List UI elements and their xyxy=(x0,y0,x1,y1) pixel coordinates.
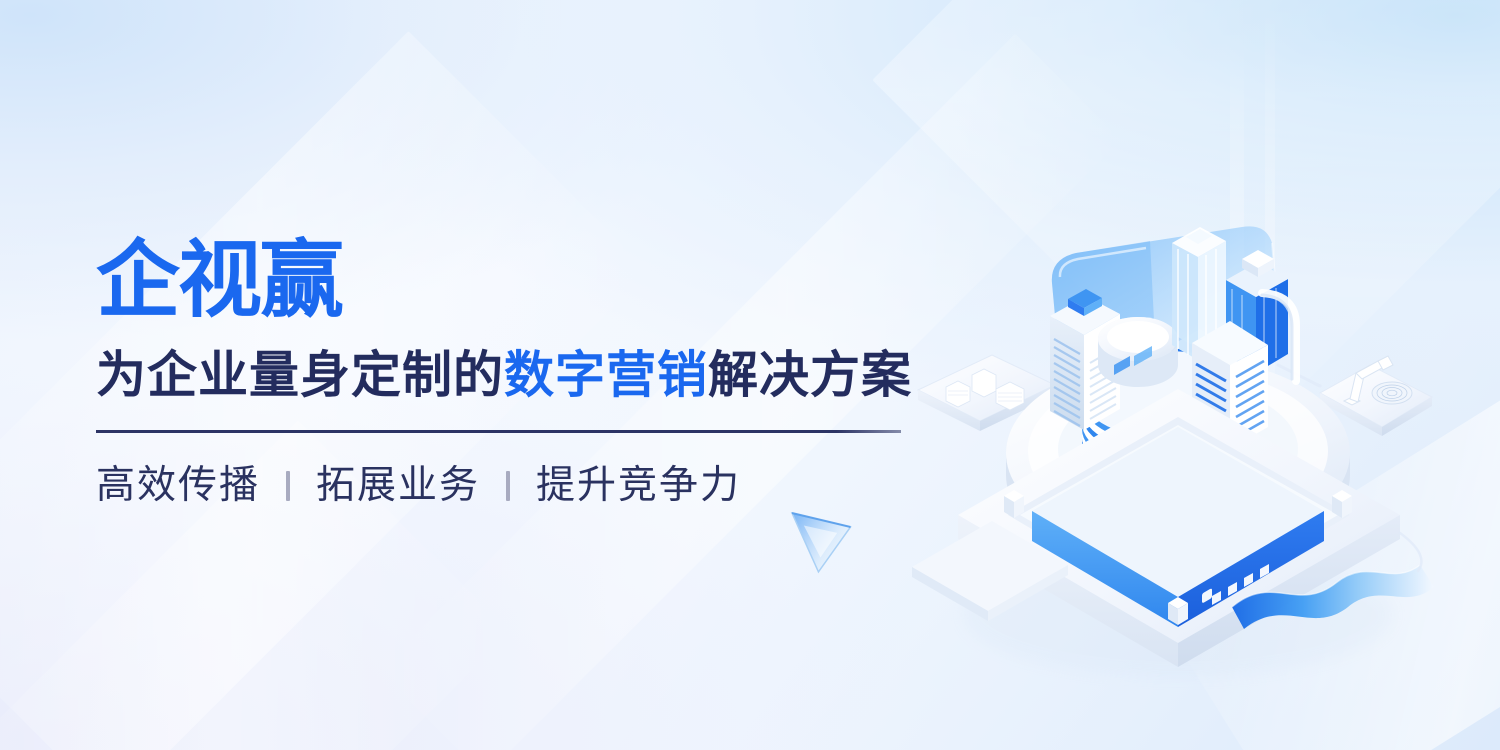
divider-rule xyxy=(96,430,901,433)
headline-highlight: 数字营销 xyxy=(504,347,708,403)
brand-title: 企视赢 xyxy=(96,238,926,322)
headline: 为企业量身定制的数字营销解决方案 xyxy=(96,348,926,402)
tagline: 高效传播 拓展业务 提升竞争力 xyxy=(96,463,926,510)
tagline-item-2: 提升竞争力 xyxy=(536,463,741,510)
marketing-banner: 企视赢 为企业量身定制的数字营销解决方案 高效传播 拓展业务 提升竞争力 xyxy=(0,0,1500,750)
hero-text-block: 企视赢 为企业量身定制的数字营销解决方案 高效传播 拓展业务 提升竞争力 xyxy=(96,238,926,510)
isometric-digital-city-illustration xyxy=(900,215,1460,675)
headline-prefix: 为企业量身定制的 xyxy=(96,347,504,403)
tagline-item-0: 高效传播 xyxy=(96,463,260,510)
glass-triangle xyxy=(792,505,856,574)
tagline-separator xyxy=(286,471,290,501)
connector-lines xyxy=(1400,533,1421,571)
radar-dish-icon xyxy=(1372,382,1412,404)
tagline-separator xyxy=(506,471,510,501)
headline-suffix: 解决方案 xyxy=(708,347,912,403)
building-cylinder xyxy=(1098,317,1178,387)
tagline-item-1: 拓展业务 xyxy=(316,463,480,510)
